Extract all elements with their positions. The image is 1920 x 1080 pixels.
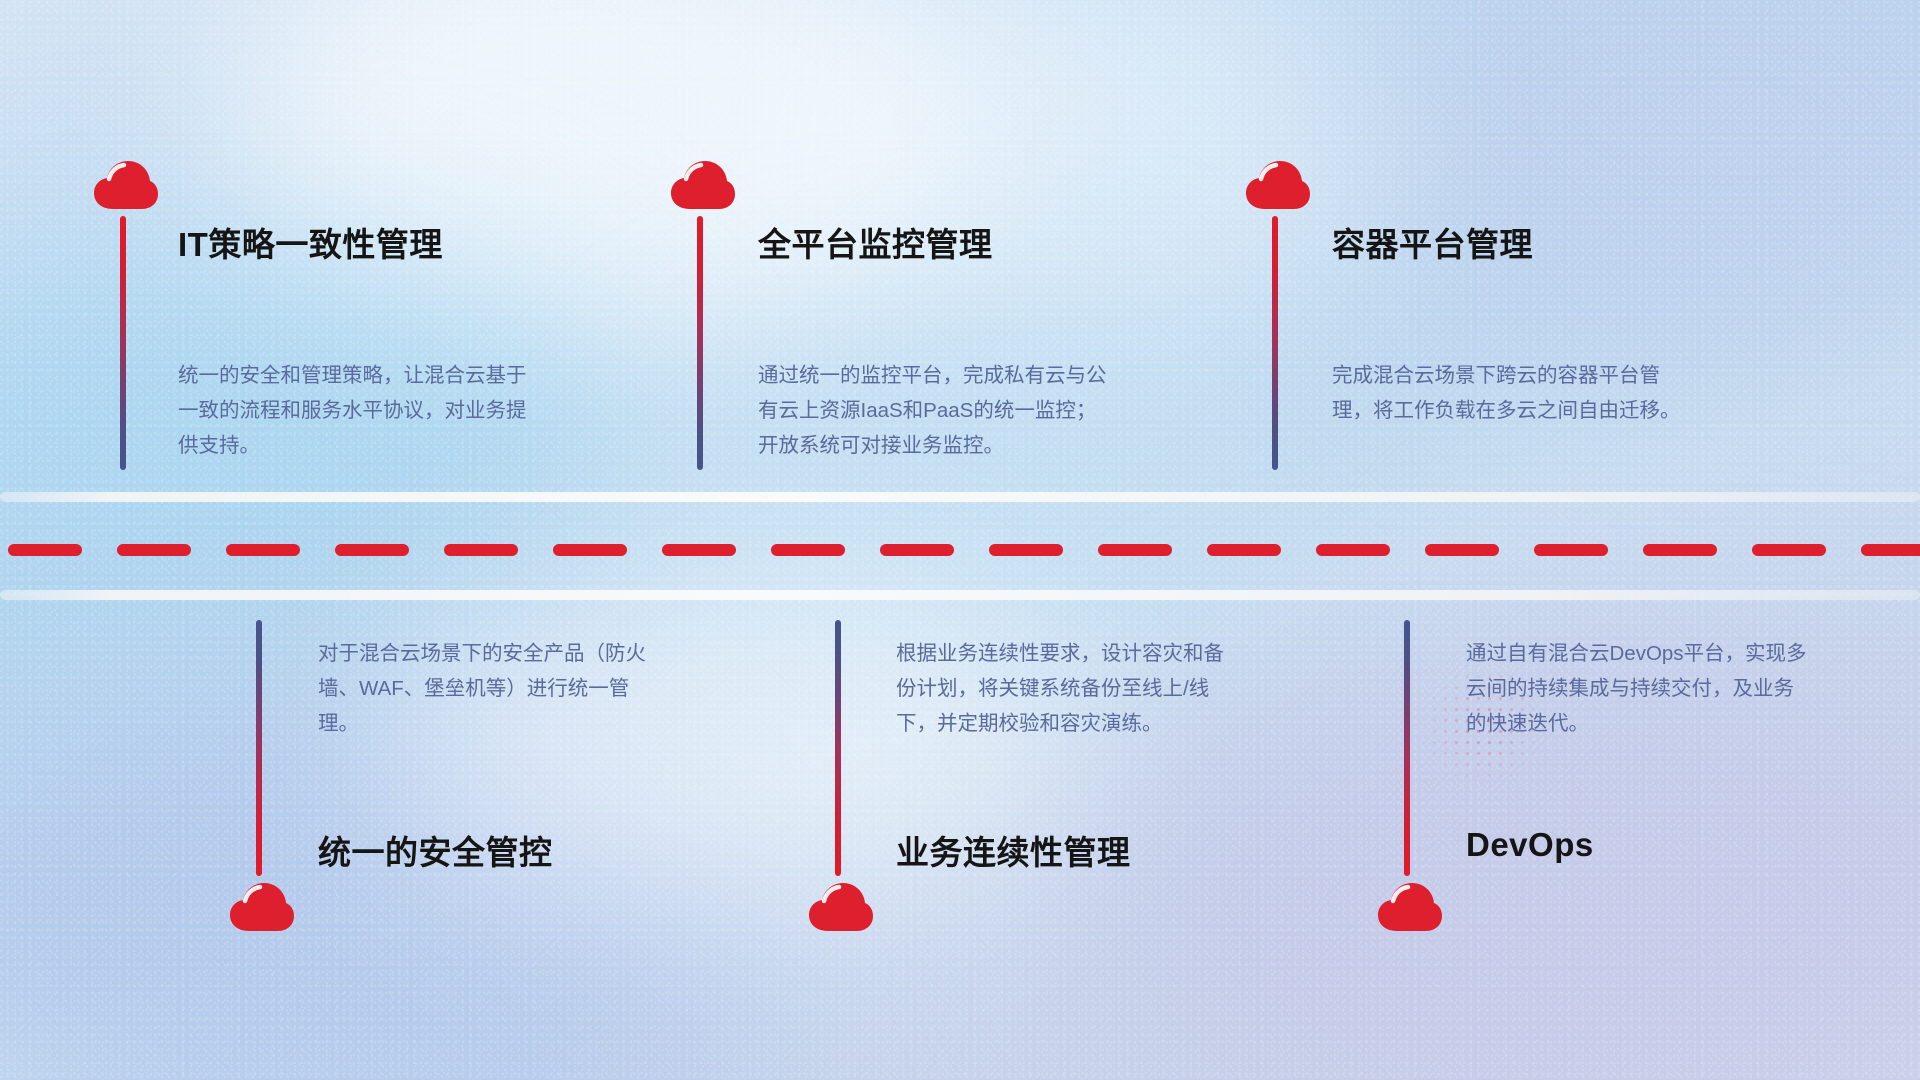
card-body-unified-security: 对于混合云场景下的安全产品（防火墙、WAF、堡垒机等）进行统一管理。	[318, 636, 663, 741]
card-title-devops: DevOps	[1466, 826, 1594, 864]
pin-container-platform	[1272, 160, 1278, 470]
card-title-it-policy-consistency: IT策略一致性管理	[178, 218, 443, 266]
divider-dash	[662, 544, 736, 556]
cloud-icon	[670, 160, 736, 210]
cloud-icon	[229, 882, 295, 932]
divider-dash	[335, 544, 409, 556]
divider-dash	[444, 544, 518, 556]
pin-business-continuity	[835, 620, 841, 932]
pin-stem	[256, 620, 262, 876]
card-title-business-continuity: 业务连续性管理	[896, 826, 1131, 874]
divider-dash	[1534, 544, 1608, 556]
divider-dash	[880, 544, 954, 556]
divider-rail-bottom	[0, 590, 1920, 600]
divider-dash	[8, 544, 82, 556]
pin-it-policy-consistency	[120, 160, 126, 470]
pin-stem	[1272, 216, 1278, 470]
divider-dash	[989, 544, 1063, 556]
divider-rail-top	[0, 492, 1920, 502]
card-body-it-policy-consistency: 统一的安全和管理策略，让混合云基于一致的流程和服务水平协议，对业务提供支持。	[178, 358, 528, 463]
card-body-container-platform: 完成混合云场景下跨云的容器平台管理，将工作负载在多云之间自由迁移。	[1332, 358, 1682, 428]
divider-dash	[1643, 544, 1717, 556]
divider-dash	[226, 544, 300, 556]
divider-dash	[1425, 544, 1499, 556]
divider-dash	[1861, 544, 1920, 556]
pin-devops	[1404, 620, 1410, 932]
card-title-full-platform-monitoring: 全平台监控管理	[758, 218, 993, 266]
cloud-icon	[1377, 882, 1443, 932]
divider-dash	[1098, 544, 1172, 556]
card-body-devops: 通过自有混合云DevOps平台，实现多云间的持续集成与持续交付，及业务的快速迭代…	[1466, 636, 1811, 741]
cloud-icon	[93, 160, 159, 210]
pin-full-platform-monitoring	[697, 160, 703, 470]
cloud-icon	[1245, 160, 1311, 210]
pin-unified-security	[256, 620, 262, 932]
divider-dash	[553, 544, 627, 556]
infographic-canvas: IT策略一致性管理 统一的安全和管理策略，让混合云基于一致的流程和服务水平协议，…	[0, 0, 1920, 1080]
pin-stem	[835, 620, 841, 876]
divider-dash	[1752, 544, 1826, 556]
card-body-business-continuity: 根据业务连续性要求，设计容灾和备份计划，将关键系统备份至线上/线下，并定期校验和…	[896, 636, 1241, 741]
card-title-container-platform: 容器平台管理	[1332, 218, 1533, 266]
pin-stem	[697, 216, 703, 470]
divider-dashed-line	[0, 544, 1920, 556]
divider-dash	[1207, 544, 1281, 556]
pin-stem	[120, 216, 126, 470]
card-title-unified-security: 统一的安全管控	[318, 826, 553, 874]
divider-dash	[117, 544, 191, 556]
card-body-full-platform-monitoring: 通过统一的监控平台，完成私有云与公有云上资源IaaS和PaaS的统一监控；开放系…	[758, 358, 1108, 463]
cloud-icon	[808, 882, 874, 932]
divider-dash	[771, 544, 845, 556]
divider-dash	[1316, 544, 1390, 556]
pin-stem	[1404, 620, 1410, 876]
